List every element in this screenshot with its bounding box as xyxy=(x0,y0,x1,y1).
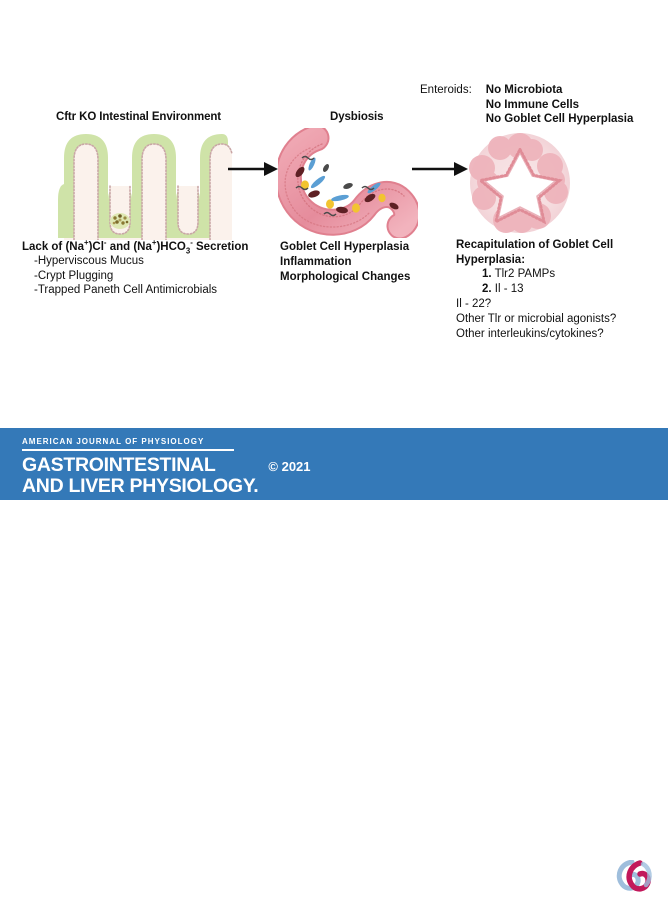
aps-logo: american physiological society xyxy=(576,860,660,922)
copyright-text: © 2021 xyxy=(268,459,310,474)
enteroid-diagram xyxy=(466,130,574,236)
journal-title: GASTROINTESTINAL AND LIVER PHYSIOLOGY. xyxy=(22,455,258,497)
left-panel-title: Cftr KO Intestinal Environment xyxy=(56,111,221,123)
middle-caption-item: Goblet Cell Hyperplasia xyxy=(280,240,410,255)
enteroid-caption: Enteroids: No Microbiota No Immune Cells… xyxy=(420,84,633,127)
numbered-item-number: 2. xyxy=(482,283,492,295)
middle-caption-item: Morphological Changes xyxy=(280,270,410,285)
left-caption-item: -Crypt Plugging xyxy=(22,269,248,284)
numbered-item-number: 1. xyxy=(482,268,492,280)
enteroid-label: Enteroids: xyxy=(420,84,472,96)
middle-caption-item: Inflammation xyxy=(280,255,410,270)
middle-panel-title: Dysbiosis xyxy=(330,111,383,123)
figure-canvas: Cftr KO Intestinal Environment xyxy=(0,0,668,500)
left-panel-caption: Lack of (Na+)Cl- and (Na+)HCO3- Secretio… xyxy=(22,240,248,298)
left-caption-head: Lack of (Na+)Cl- and (Na+)HCO3- Secretio… xyxy=(22,240,248,254)
aps-line1: american xyxy=(576,884,630,895)
right-numbered-list: 1. Tlr2 PAMPs 2. Il - 13 xyxy=(456,267,616,297)
arrow-middle-to-right xyxy=(410,158,470,180)
journal-title-line2: AND LIVER PHYSIOLOGY. xyxy=(22,475,258,497)
journal-rule xyxy=(22,449,234,451)
right-question: Other Tlr or microbial agonists? xyxy=(456,312,616,327)
numbered-item: 1. Tlr2 PAMPs xyxy=(456,267,616,282)
aps-line2: physiological xyxy=(576,895,630,906)
aps-line3: society xyxy=(576,906,630,917)
paneth-cell-granules xyxy=(110,213,130,229)
journal-kicker: AMERICAN JOURNAL OF PHYSIOLOGY xyxy=(22,437,311,446)
journal-title-line1: GASTROINTESTINAL xyxy=(22,454,215,476)
arrow-left-to-middle xyxy=(226,158,280,180)
aps-wordmark-text: american physiological society xyxy=(576,884,630,917)
journal-wordmark: AMERICAN JOURNAL OF PHYSIOLOGY GASTROINT… xyxy=(22,437,311,497)
enteroid-feature: No Microbiota xyxy=(486,84,634,98)
numbered-item-text: Tlr2 PAMPs xyxy=(495,268,556,280)
right-caption-head: Recapitulation of Goblet Cell Hyperplasi… xyxy=(456,238,616,267)
enteroid-feature: No Immune Cells xyxy=(486,99,634,113)
intestinal-crypt-diagram xyxy=(58,128,234,240)
right-panel-caption: Recapitulation of Goblet Cell Hyperplasi… xyxy=(456,238,616,342)
numbered-item: 2. Il - 13 xyxy=(456,282,616,297)
middle-panel-caption: Goblet Cell Hyperplasia Inflammation Mor… xyxy=(280,240,410,285)
journal-footer-banner: AMERICAN JOURNAL OF PHYSIOLOGY GASTROINT… xyxy=(0,428,668,500)
dysbiotic-intestine-diagram xyxy=(278,128,418,238)
left-caption-item: -Trapped Paneth Cell Antimicrobials xyxy=(22,283,248,298)
right-question: Il - 22? xyxy=(456,297,616,312)
right-question: Other interleukins/cytokines? xyxy=(456,327,616,342)
numbered-item-text: Il - 13 xyxy=(495,283,524,295)
left-caption-item: -Hyperviscous Mucus xyxy=(22,254,248,269)
enteroid-feature: No Goblet Cell Hyperplasia xyxy=(486,113,634,127)
